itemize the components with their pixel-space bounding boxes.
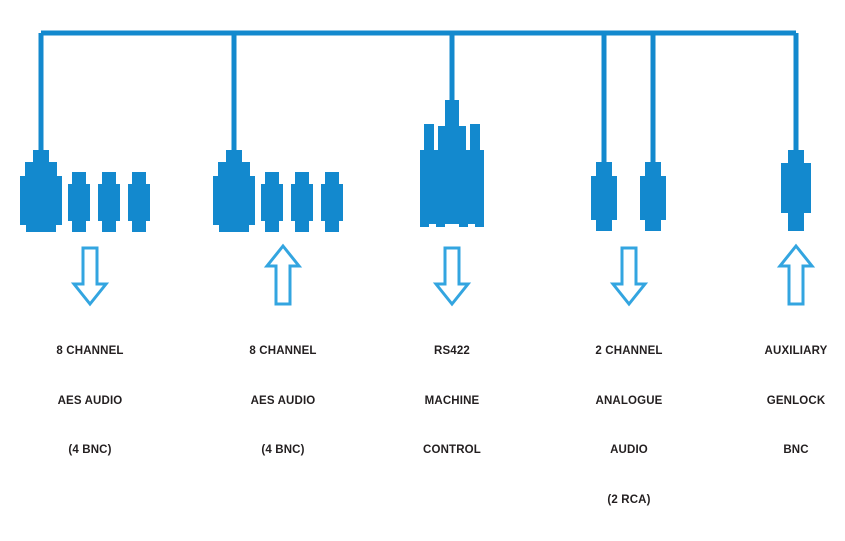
label-line: 2 CHANNEL — [595, 343, 662, 360]
label-line: (4 BNC) — [56, 442, 123, 459]
connector-group-analogue-audio — [591, 162, 666, 231]
xlr-connector-icon — [20, 150, 62, 232]
d-sub-base-icon — [429, 212, 475, 224]
label-line: BNC — [765, 442, 828, 459]
arrow-up-icon — [267, 246, 299, 304]
label-line: (4 BNC) — [249, 442, 316, 459]
bnc-connector-icon — [261, 172, 283, 232]
bnc-connector-icon — [291, 172, 313, 232]
connector-group-aes-audio-in — [213, 150, 343, 232]
label-line: RS422 — [423, 343, 481, 360]
label-line: AUDIO — [595, 442, 662, 459]
bnc-connector-icon — [781, 150, 811, 231]
connector-group-aes-audio-out — [20, 150, 150, 232]
bnc-connector-icon — [128, 172, 150, 232]
connector-group-rs422 — [420, 100, 484, 227]
rca-connector-icon — [640, 162, 666, 231]
label-line: 8 CHANNEL — [56, 343, 123, 360]
d-sub-foot-icon — [475, 212, 484, 227]
port-label-aes-audio-in: 8 CHANNEL AES AUDIO (4 BNC) — [249, 310, 316, 492]
arrow-down-icon — [613, 248, 645, 304]
connector-panel-diagram: 8 CHANNEL AES AUDIO (4 BNC) 8 CHANNEL AE… — [0, 0, 845, 400]
d-sub-hood-icon — [438, 100, 466, 150]
label-line: AES AUDIO — [56, 393, 123, 410]
xlr-connector-icon — [213, 150, 255, 232]
port-label-aes-audio-out: 8 CHANNEL AES AUDIO (4 BNC) — [56, 310, 123, 492]
d-sub-body-icon — [420, 150, 484, 212]
arrow-down-icon — [436, 248, 468, 304]
d-sub-foot-icon — [420, 212, 429, 227]
distribution-bus — [41, 33, 796, 162]
bnc-connector-icon — [68, 172, 90, 232]
label-line: ANALOGUE — [595, 393, 662, 410]
label-line: MACHINE — [423, 393, 481, 410]
label-line: AES AUDIO — [249, 393, 316, 410]
direction-arrows — [74, 246, 812, 304]
port-label-analogue-audio: 2 CHANNEL ANALOGUE AUDIO (2 RCA) — [595, 310, 662, 541]
label-line: 8 CHANNEL — [249, 343, 316, 360]
label-line: GENLOCK — [765, 393, 828, 410]
connector-group-genlock — [781, 150, 811, 231]
label-line: CONTROL — [423, 442, 481, 459]
bnc-connector-icon — [321, 172, 343, 232]
port-label-genlock: AUXILIARY GENLOCK BNC — [765, 310, 828, 492]
port-label-rs422: RS422 MACHINE CONTROL — [423, 310, 481, 492]
bnc-connector-icon — [98, 172, 120, 232]
label-line: AUXILIARY — [765, 343, 828, 360]
arrow-up-icon — [780, 246, 812, 304]
rca-connector-icon — [591, 162, 617, 231]
label-line: (2 RCA) — [595, 492, 662, 509]
arrow-down-icon — [74, 248, 106, 304]
